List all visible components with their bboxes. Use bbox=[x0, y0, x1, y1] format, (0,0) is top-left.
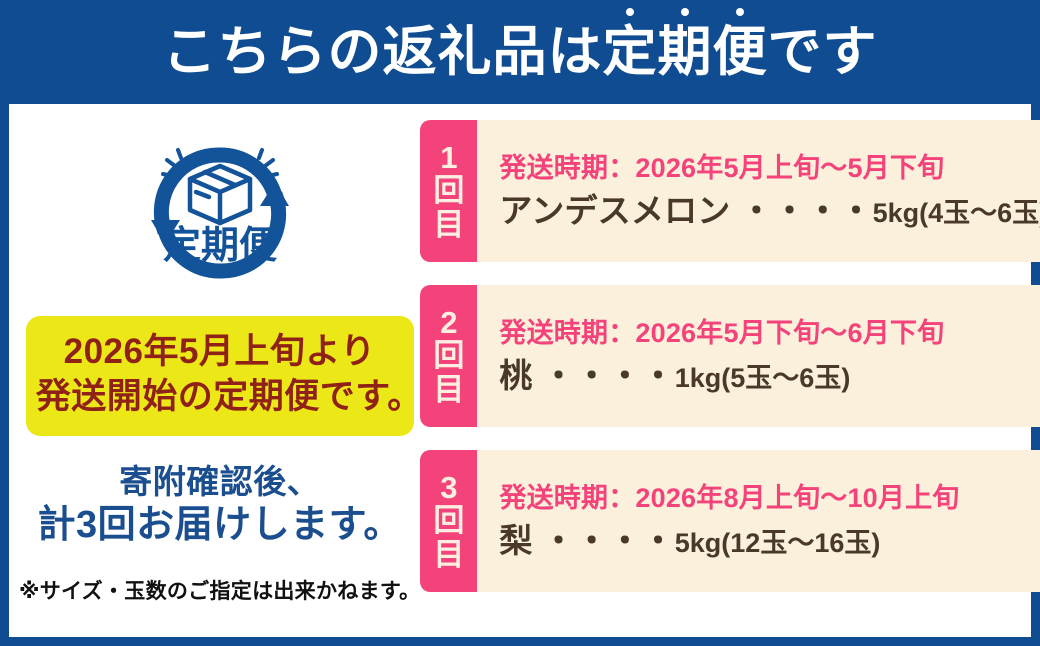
delivery-badge-kai-1: 回 bbox=[433, 174, 464, 207]
body-panel: 定期便 2026年5月上旬より 発送開始の定期便です。 寄附確認後、 計3回お届… bbox=[9, 104, 1031, 637]
delivery-badge-me-2: 目 bbox=[433, 373, 464, 406]
delivery-badge-number-1: 1 bbox=[440, 141, 457, 174]
delivery-badge-3: 3 回 目 bbox=[420, 450, 477, 592]
delivery-badge-me-3: 目 bbox=[433, 538, 464, 571]
delivery-item-3: 梨 ・・・・ 5kg(12玉～16玉) bbox=[499, 522, 1040, 560]
title-emphasis-char-3: 便 bbox=[713, 25, 768, 79]
poster-root: こちらの返礼品は 定 期 便 です bbox=[0, 0, 1040, 646]
left-column: 定期便 2026年5月上旬より 発送開始の定期便です。 寄附確認後、 計3回お届… bbox=[19, 118, 420, 629]
start-date-highlight: 2026年5月上旬より 発送開始の定期便です。 bbox=[26, 316, 414, 436]
delivery-content-2: 発送時期：2026年5月下旬～6月下旬 桃 ・・・・ 1kg(5玉～6玉) bbox=[477, 285, 1040, 427]
delivery-row: 1 回 目 発送時期：2026年5月上旬～5月下旬 アンデスメロン ・・・・ 5… bbox=[420, 120, 1040, 262]
header-banner: こちらの返礼品は 定 期 便 です bbox=[9, 0, 1031, 104]
delivery-badge-number-3: 3 bbox=[440, 471, 457, 504]
delivery-row: 2 回 目 発送時期：2026年5月下旬～6月下旬 桃 ・・・・ 1kg(5玉～… bbox=[420, 285, 1040, 427]
delivery-item-name-3: 梨 ・・・・ bbox=[499, 522, 674, 560]
title-suffix: です bbox=[768, 25, 878, 79]
delivery-badge-number-2: 2 bbox=[440, 306, 457, 339]
title-emphasis: 定 期 便 bbox=[603, 25, 768, 79]
subscription-cycle-icon: 定期便 bbox=[125, 124, 315, 302]
delivery-item-name-2: 桃 ・・・・ bbox=[499, 357, 674, 395]
delivery-item-qty-2: 1kg(5玉～6玉) bbox=[675, 363, 851, 394]
delivery-item-qty-1: 5kg(4玉～6玉) bbox=[873, 198, 1040, 229]
title-prefix: こちらの返礼品は bbox=[163, 25, 603, 79]
delivery-content-1: 発送時期：2026年5月上旬～5月下旬 アンデスメロン ・・・・ 5kg(4玉～… bbox=[477, 120, 1040, 262]
delivery-badge-kai-3: 回 bbox=[433, 504, 464, 537]
start-date-line-2: 発送開始の定期便です。 bbox=[36, 375, 404, 420]
delivery-schedule-list: 1 回 目 発送時期：2026年5月上旬～5月下旬 アンデスメロン ・・・・ 5… bbox=[420, 118, 1040, 629]
delivery-badge-me-1: 目 bbox=[433, 208, 464, 241]
size-disclaimer-note: ※サイズ・玉数のご指定は出来かねます。 bbox=[19, 575, 420, 605]
start-date-line-1: 2026年5月上旬より bbox=[36, 330, 404, 375]
delivery-badge-1: 1 回 目 bbox=[420, 120, 477, 262]
delivery-badge-kai-2: 回 bbox=[433, 339, 464, 372]
delivery-count-info: 寄附確認後、 計3回お届けします。 bbox=[38, 462, 402, 549]
delivery-item-2: 桃 ・・・・ 1kg(5玉～6玉) bbox=[499, 357, 1040, 395]
delivery-item-qty-3: 5kg(12玉～16玉) bbox=[675, 528, 881, 559]
delivery-period-3: 発送時期：2026年8月上旬～10月上旬 bbox=[499, 482, 1040, 514]
title-emphasis-char-1: 定 bbox=[603, 25, 658, 79]
delivery-badge-2: 2 回 目 bbox=[420, 285, 477, 427]
delivery-content-3: 発送時期：2026年8月上旬～10月上旬 梨 ・・・・ 5kg(12玉～16玉) bbox=[477, 450, 1040, 592]
delivery-period-2: 発送時期：2026年5月下旬～6月下旬 bbox=[499, 317, 1040, 349]
delivery-period-1: 発送時期：2026年5月上旬～5月下旬 bbox=[499, 152, 1040, 184]
page-title: こちらの返礼品は 定 期 便 です bbox=[163, 25, 878, 79]
cycle-icon-label: 定期便 bbox=[163, 225, 278, 267]
delivery-row: 3 回 目 発送時期：2026年8月上旬～10月上旬 梨 ・・・・ 5kg(12… bbox=[420, 450, 1040, 592]
delivery-item-1: アンデスメロン ・・・・ 5kg(4玉～6玉) bbox=[499, 192, 1040, 230]
title-emphasis-char-2: 期 bbox=[658, 25, 713, 79]
delivery-item-name-1: アンデスメロン ・・・・ bbox=[499, 192, 872, 230]
delivery-info-line-2: 計3回お届けします。 bbox=[38, 502, 402, 549]
delivery-info-line-1: 寄附確認後、 bbox=[38, 462, 402, 502]
